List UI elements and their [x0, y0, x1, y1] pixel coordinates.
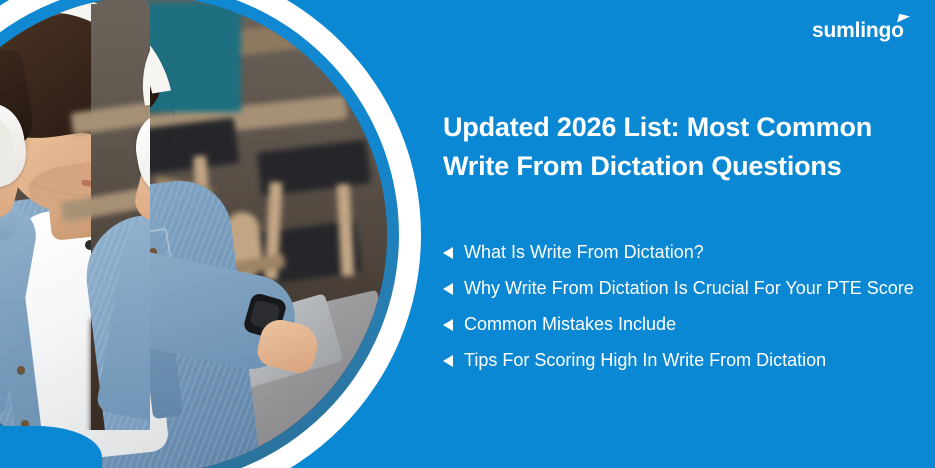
topic-list: What Is Write From Dictation? Why Write …: [443, 240, 921, 373]
list-item[interactable]: Why Write From Dictation Is Crucial For …: [443, 276, 921, 301]
logo-wordmark: sumlingo: [812, 19, 904, 42]
list-item[interactable]: Common Mistakes Include: [443, 312, 921, 337]
photo-scene-bleed: [91, 4, 150, 430]
page-title: Updated 2026 List: Most Common Write Fro…: [443, 108, 913, 186]
list-item[interactable]: What Is Write From Dictation?: [443, 240, 921, 265]
left-triangle-icon: [443, 355, 453, 367]
list-item-label: What Is Write From Dictation?: [464, 240, 704, 265]
hero-photo-bleed: [0, 0, 150, 430]
left-triangle-icon: [443, 247, 453, 259]
list-item[interactable]: Tips For Scoring High In Write From Dict…: [443, 348, 921, 373]
left-triangle-icon: [443, 319, 453, 331]
list-item-label: Why Write From Dictation Is Crucial For …: [464, 276, 914, 301]
cafe-table: [70, 87, 150, 135]
list-item-label: Common Mistakes Include: [464, 312, 676, 337]
hero-photo-block: [0, 0, 440, 468]
banner-canvas: sumlingo Updated 2026 List: Most Common …: [0, 0, 935, 468]
sumlingo-logo[interactable]: sumlingo: [812, 18, 920, 44]
list-item-label: Tips For Scoring High In Write From Dict…: [464, 348, 826, 373]
left-triangle-icon: [443, 283, 453, 295]
